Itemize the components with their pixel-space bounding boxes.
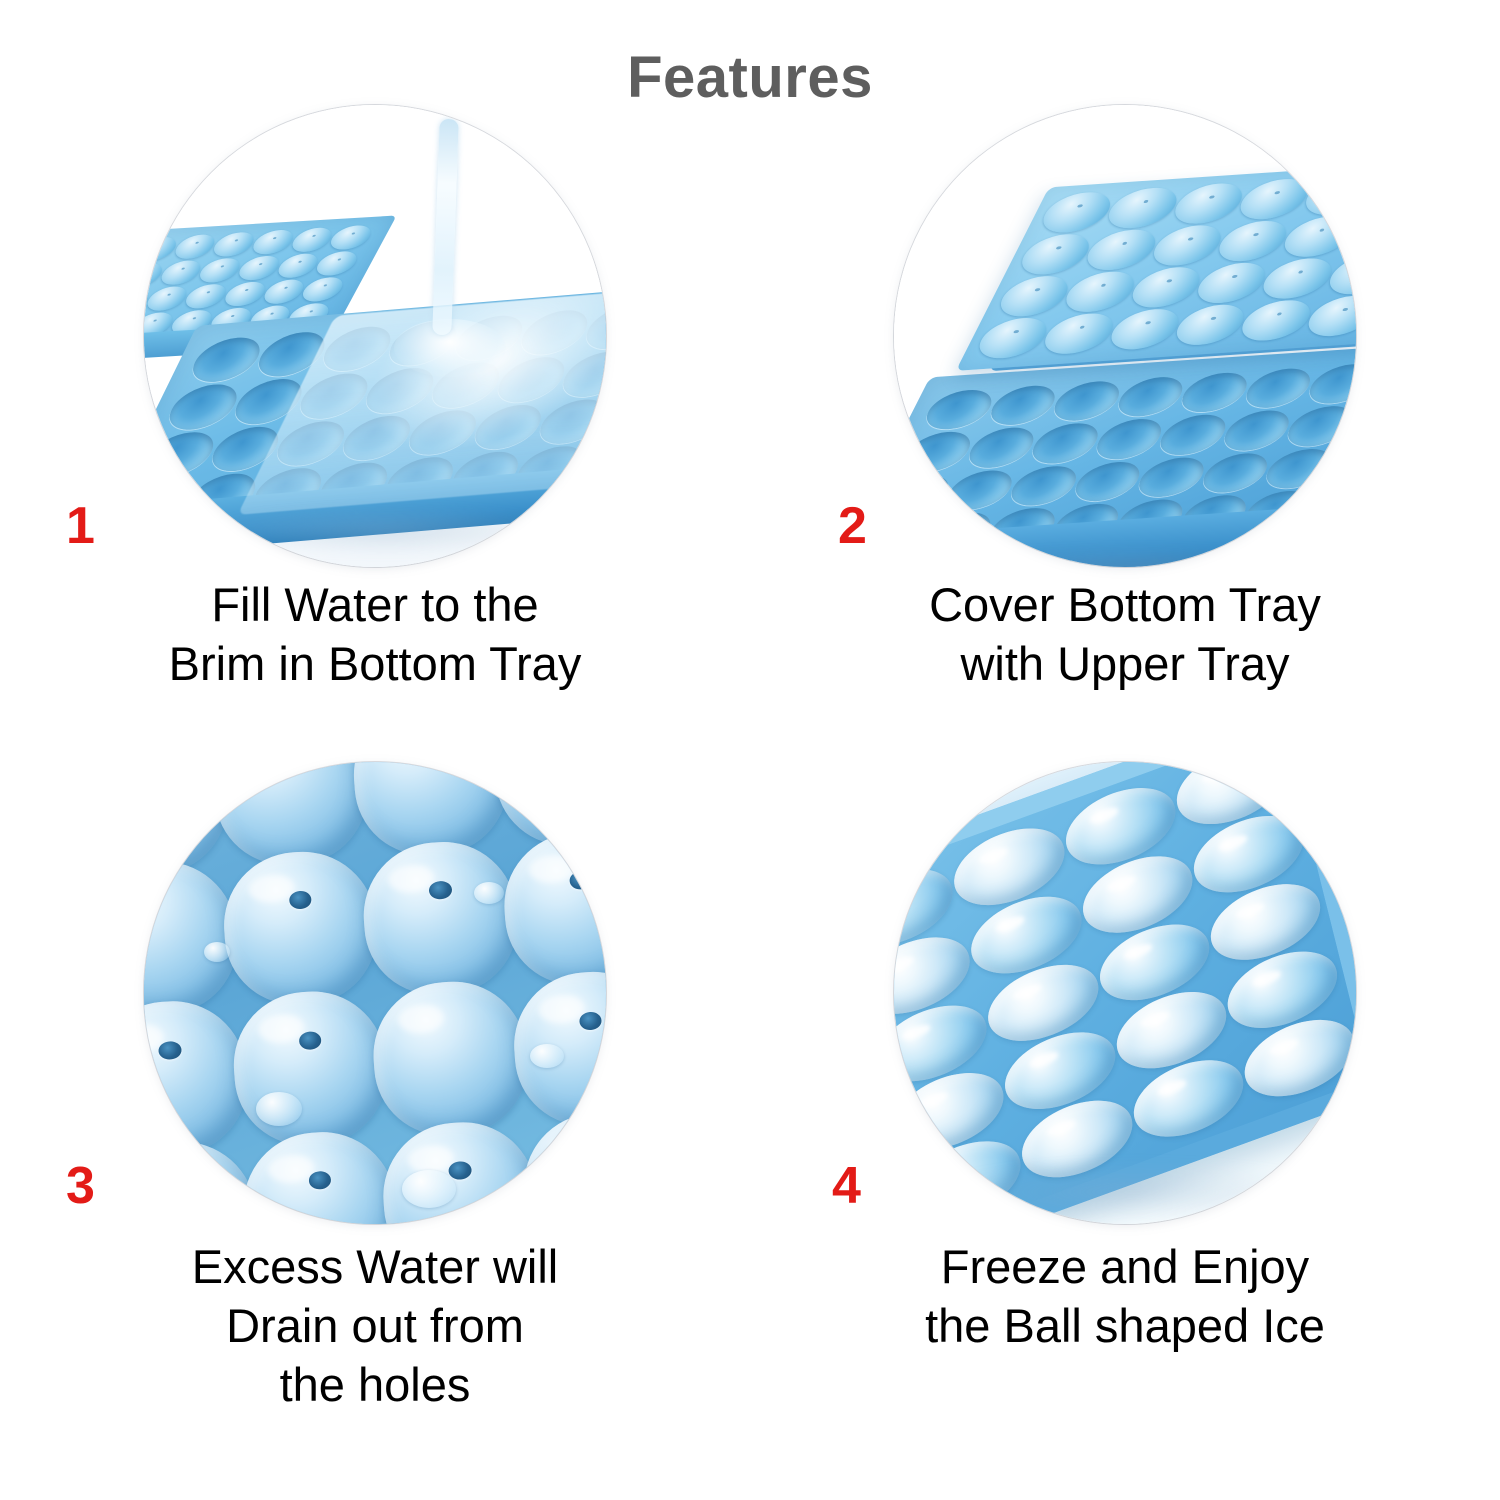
tray-cavity bbox=[1110, 375, 1191, 418]
tray-bump bbox=[156, 260, 206, 286]
tray-bump bbox=[1232, 177, 1316, 221]
step-card-3: 3 Excess Water will Drain out from the h… bbox=[0, 740, 750, 1460]
tray-cavity bbox=[1302, 362, 1356, 405]
caption-line: Drain out from bbox=[0, 1296, 750, 1355]
dome-with-hole bbox=[228, 987, 391, 1150]
step-caption-4: Freeze and Enjoy the Ball shaped Ice bbox=[750, 1237, 1500, 1355]
tray-bump bbox=[992, 274, 1076, 318]
tray-bump bbox=[1234, 298, 1318, 342]
tray-bump bbox=[259, 279, 309, 305]
tray-cavity bbox=[1238, 367, 1319, 410]
tray-cavity bbox=[982, 384, 1063, 427]
step-number-4: 4 bbox=[832, 1160, 861, 1212]
caption-line: Freeze and Enjoy bbox=[750, 1237, 1500, 1296]
tray-bump bbox=[1037, 312, 1121, 356]
dome-with-hole bbox=[378, 1117, 541, 1224]
tray-bump bbox=[312, 250, 362, 276]
step-number-2: 2 bbox=[838, 500, 867, 552]
caption-line: the holes bbox=[0, 1355, 750, 1414]
tray-bump bbox=[170, 234, 220, 260]
tray-bump bbox=[298, 276, 348, 302]
tray-bump bbox=[1124, 265, 1208, 309]
scene-water-draining bbox=[144, 762, 606, 1224]
caption-line: Fill Water to the bbox=[0, 575, 750, 634]
step-3-photo bbox=[144, 762, 606, 1224]
tray-bump bbox=[1145, 223, 1229, 267]
tray-shadow bbox=[934, 1162, 1334, 1222]
tray-cavity bbox=[1025, 422, 1106, 465]
tray-bump bbox=[234, 255, 284, 281]
tray-cavity bbox=[940, 468, 1021, 511]
caption-line: Brim in Bottom Tray bbox=[0, 634, 750, 693]
step-card-2: 2 Cover Bottom Tray with Upper Tray bbox=[750, 95, 1500, 815]
caption-line: Cover Bottom Tray bbox=[750, 575, 1500, 634]
scene-fill-water bbox=[144, 105, 606, 567]
caption-line: with Upper Tray bbox=[750, 634, 1500, 693]
dome-plain bbox=[369, 977, 532, 1140]
water-droplet bbox=[402, 1170, 456, 1208]
tray-cavity bbox=[919, 388, 1000, 431]
dome-with-hole bbox=[238, 1127, 401, 1224]
step-caption-1: Fill Water to the Brim in Bottom Tray bbox=[0, 575, 750, 693]
tray-bump bbox=[1079, 228, 1163, 272]
tray-bump bbox=[273, 253, 323, 279]
tray-bump bbox=[1255, 256, 1339, 300]
tray-cavity bbox=[1174, 371, 1255, 414]
tray-cavity bbox=[1153, 413, 1234, 456]
tray-bump bbox=[971, 316, 1055, 360]
dome-plain bbox=[519, 1107, 606, 1224]
tray-cavity bbox=[1217, 409, 1298, 452]
tray-cavity bbox=[1067, 460, 1148, 503]
step-1-photo bbox=[144, 105, 606, 567]
tray-bump bbox=[248, 229, 298, 255]
water-droplet bbox=[256, 1092, 302, 1126]
scene-frozen-ice-balls bbox=[894, 762, 1356, 1224]
step-4-photo bbox=[894, 762, 1356, 1224]
caption-line: the Ball shaped Ice bbox=[750, 1296, 1500, 1355]
tray-cavity bbox=[1089, 417, 1170, 460]
step-number-1: 1 bbox=[66, 500, 95, 552]
tray-cavity bbox=[1195, 451, 1276, 494]
tray-bump bbox=[195, 257, 245, 283]
tray-bump bbox=[287, 227, 337, 253]
infographic-page: Features bbox=[0, 0, 1500, 1500]
tray-cavity bbox=[161, 382, 245, 431]
step-card-4: 4 Freeze and Enjoy the Ball shaped Ice bbox=[750, 740, 1500, 1460]
caption-line: Excess Water will bbox=[0, 1237, 750, 1296]
tray-cavity bbox=[1004, 464, 1085, 507]
tray-bump bbox=[144, 286, 192, 312]
tray-cavity bbox=[1046, 380, 1127, 423]
tray-cavity bbox=[897, 430, 978, 473]
tray-bump bbox=[1035, 190, 1119, 234]
tray-bump bbox=[1277, 215, 1356, 259]
tray-bump bbox=[326, 224, 376, 250]
tray-bump bbox=[220, 281, 270, 307]
tray-bump bbox=[1101, 186, 1185, 230]
tray-cavity bbox=[1131, 455, 1212, 498]
tray-bump bbox=[1166, 181, 1250, 225]
water-droplet bbox=[204, 942, 230, 962]
step-caption-2: Cover Bottom Tray with Upper Tray bbox=[750, 575, 1500, 693]
tray-cavity bbox=[894, 472, 956, 515]
tray-cavity bbox=[1281, 404, 1356, 447]
tray-bump bbox=[1168, 303, 1252, 347]
water-droplet bbox=[474, 882, 504, 904]
tray-bump bbox=[1014, 232, 1098, 276]
tray-cavity bbox=[1259, 447, 1340, 490]
step-caption-3: Excess Water will Drain out from the hol… bbox=[0, 1237, 750, 1415]
step-2-photo bbox=[894, 105, 1356, 567]
tray-bump bbox=[1190, 261, 1274, 305]
step-card-1: 1 Fill Water to the Brim in Bottom Tray bbox=[0, 95, 750, 815]
tray-cavity bbox=[184, 335, 268, 384]
tray-cavity bbox=[961, 426, 1042, 469]
tray-bump bbox=[1211, 219, 1295, 263]
tray-bump bbox=[1058, 270, 1142, 314]
tray-bump bbox=[1103, 307, 1187, 351]
tray-bump bbox=[181, 283, 231, 309]
step-number-3: 3 bbox=[66, 1160, 95, 1212]
water-droplet bbox=[530, 1044, 564, 1068]
dome-with-hole bbox=[219, 846, 382, 1009]
tray-cavity bbox=[144, 429, 222, 478]
scene-cover-tray bbox=[894, 105, 1356, 567]
tray-bump bbox=[209, 231, 259, 257]
tray-shadow bbox=[202, 505, 572, 555]
dome-with-hole bbox=[359, 837, 522, 1000]
dome-with-hole bbox=[499, 827, 606, 990]
dome-grid bbox=[144, 762, 606, 1224]
